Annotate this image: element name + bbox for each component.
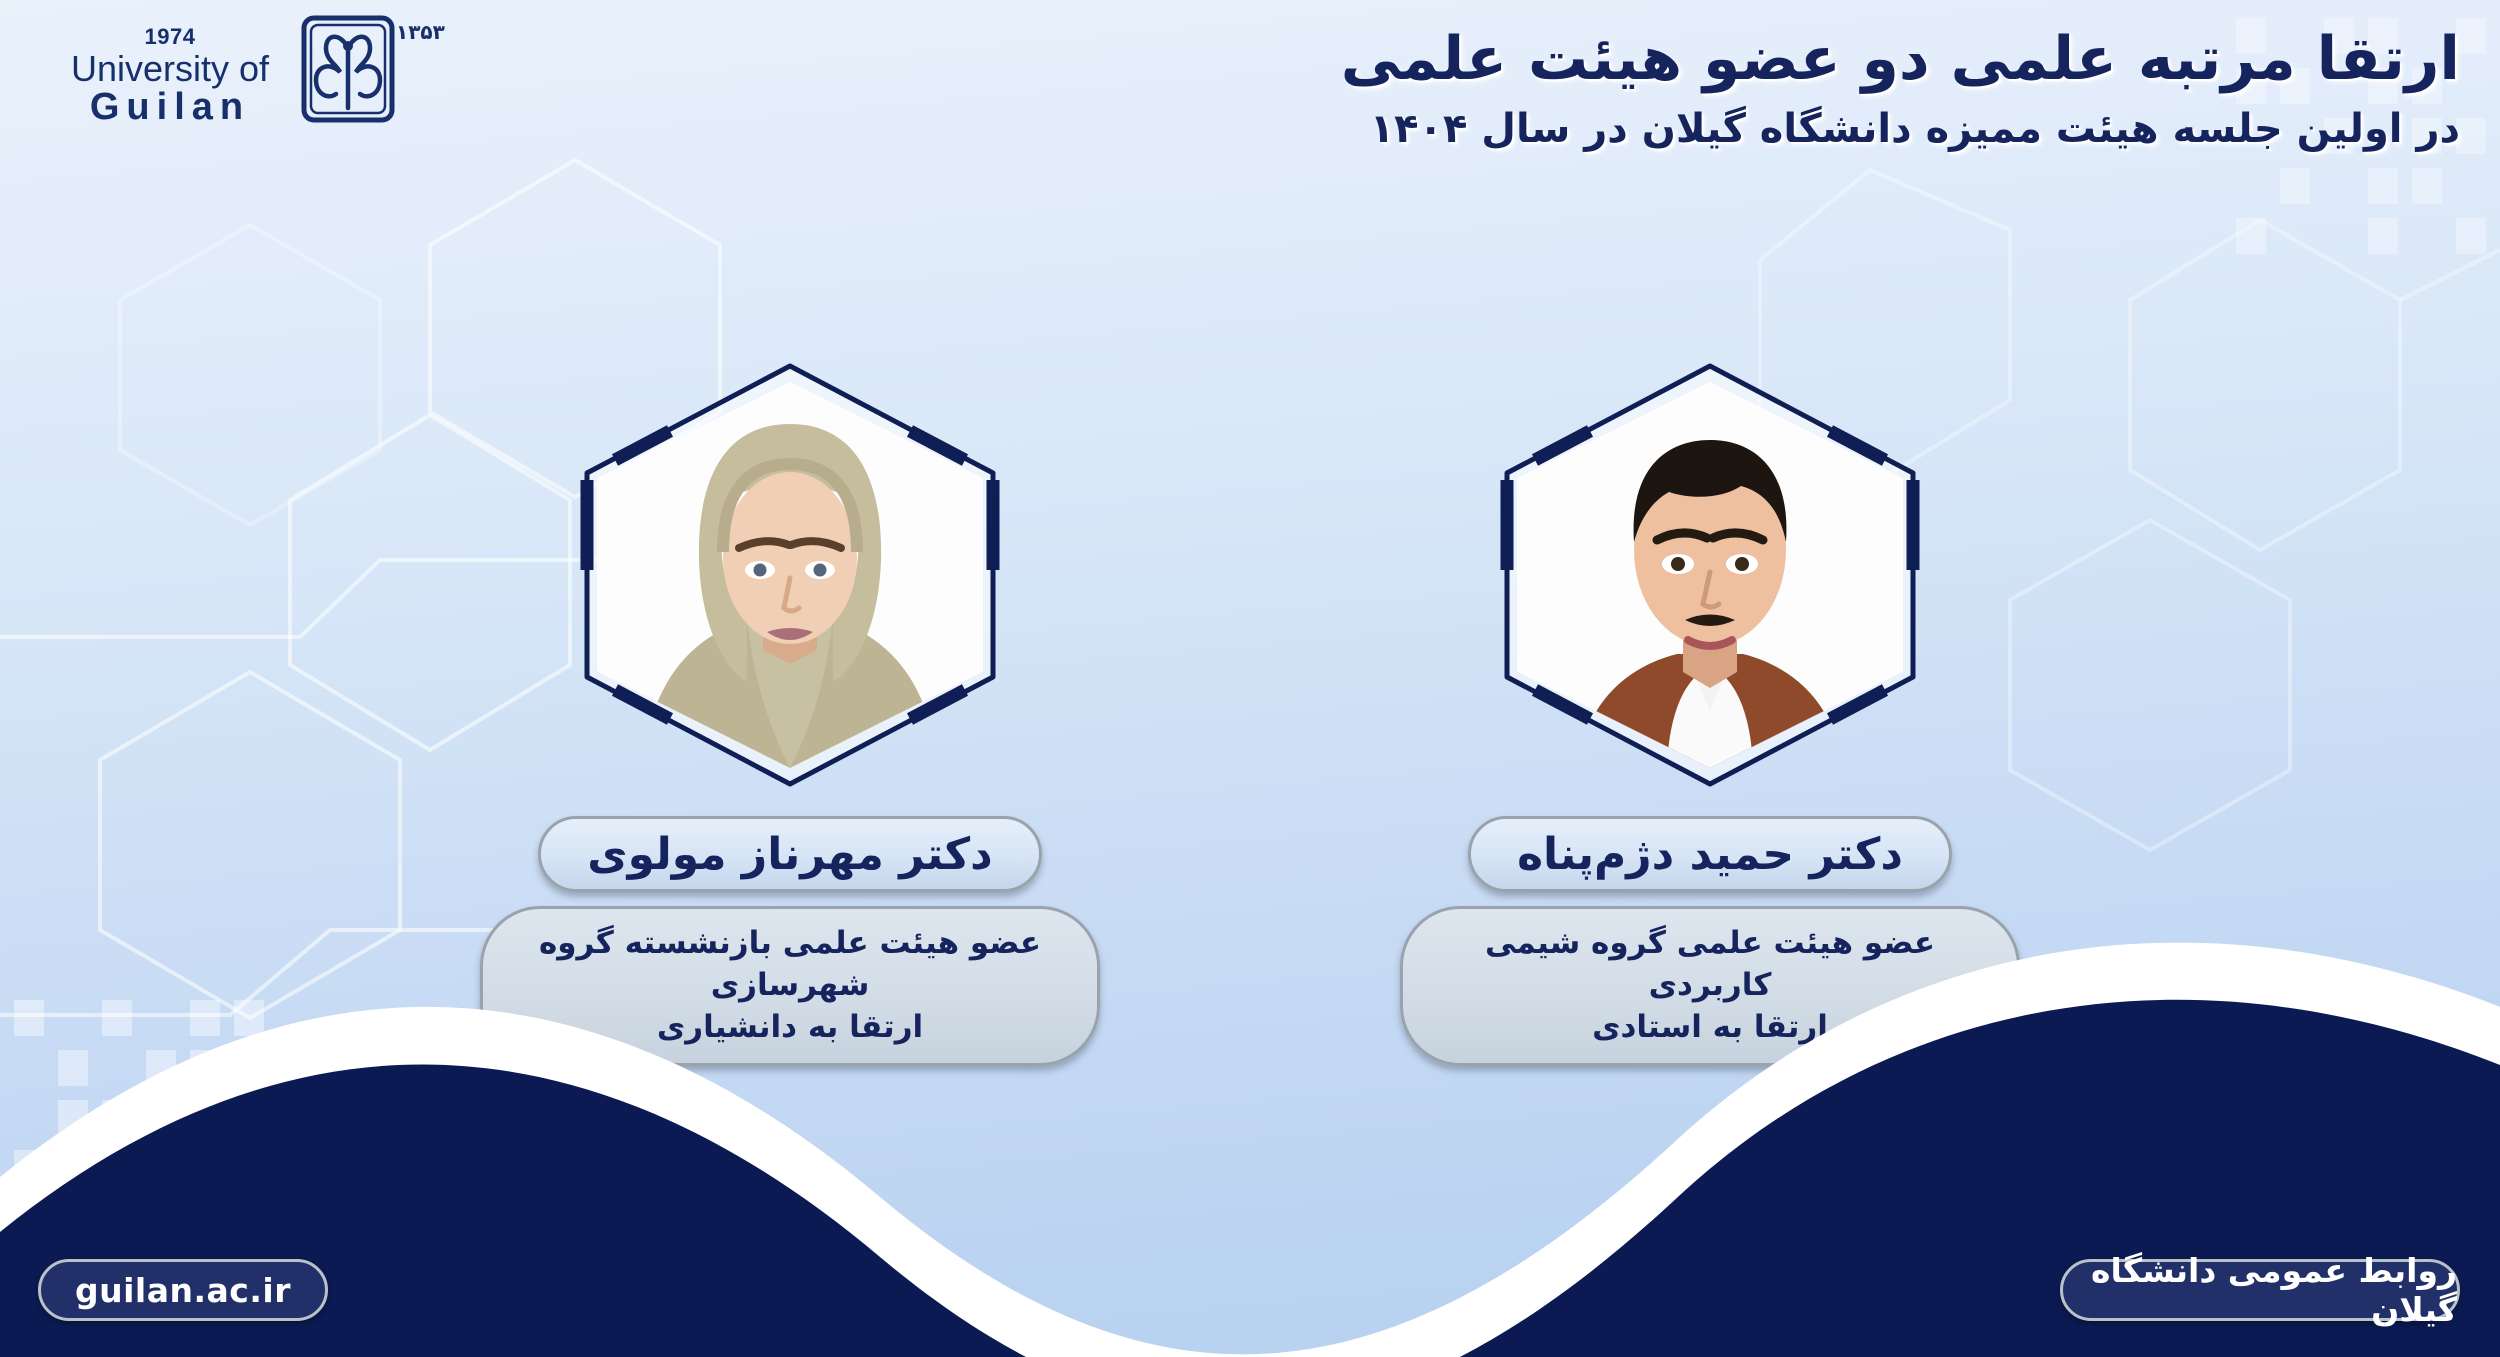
logo-year-latin: 1974: [40, 24, 300, 50]
logo-persian-text: ۱۳۵۳: [396, 22, 486, 122]
page-title: ارتقا مرتبه علمی دو عضو هیئت علمی: [1210, 22, 2460, 97]
headline-block: ارتقا مرتبه علمی دو عضو هیئت علمی در اول…: [1210, 22, 2460, 155]
hexagon-photo-frame: [575, 360, 1005, 790]
logo-line-university-of: University of: [40, 50, 300, 88]
person-name-badge: دکتر حمید دژم‌پناه: [1468, 816, 1952, 892]
page-subtitle: در اولین جلسه هیئت ممیزه دانشگاه گیلان د…: [1210, 103, 2460, 155]
poster-canvas: 1974 University of Guilan ۱۳۵۳ ارتقا مرت…: [0, 0, 2500, 1357]
person-name-badge: دکتر مهرناز مولوی: [538, 816, 1041, 892]
university-logo: 1974 University of Guilan ۱۳۵۳: [18, 6, 488, 128]
logo-latin-text: 1974 University of Guilan: [40, 24, 300, 128]
hexagon-photo-frame: [1495, 360, 1925, 790]
website-badge[interactable]: guilan.ac.ir: [38, 1259, 328, 1321]
logo-year-persian: ۱۳۵۳: [396, 22, 486, 42]
public-relations-badge: روابط عمومی دانشگاه گیلان: [2060, 1259, 2460, 1321]
logo-line-guilan: Guilan: [40, 88, 300, 128]
butterfly-emblem-icon: [300, 14, 396, 124]
